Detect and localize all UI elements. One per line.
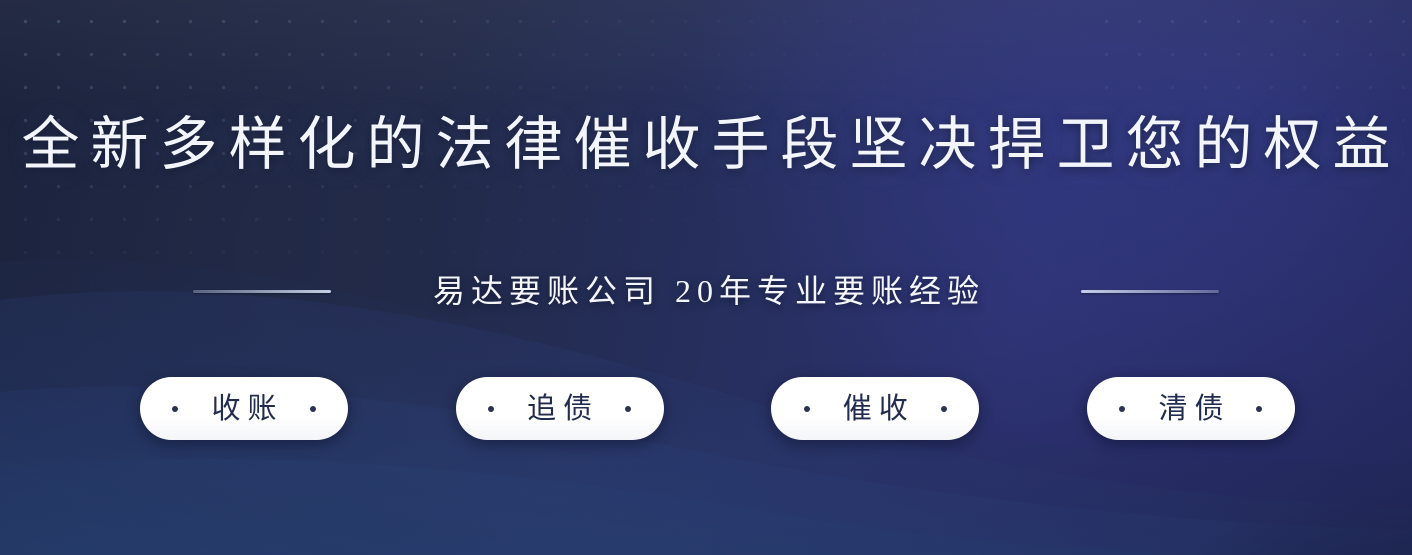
dot-icon bbox=[310, 406, 316, 412]
service-pill-row: 收账 追债 催收 清债 bbox=[140, 377, 1295, 440]
dot-icon bbox=[941, 406, 947, 412]
subtitle-row: 易达要账公司 20年专业要账经验 bbox=[0, 268, 1412, 314]
right-rule-decoration bbox=[1081, 290, 1219, 293]
promo-banner: 全新多样化的法律催收手段坚决捍卫您的权益 易达要账公司 20年专业要账经验 收账… bbox=[0, 0, 1412, 555]
banner-headline: 全新多样化的法律催收手段坚决捍卫您的权益 bbox=[0, 110, 1412, 180]
banner-subtitle: 易达要账公司 20年专业要账经验 bbox=[427, 271, 985, 311]
service-pill-label: 清债 bbox=[1151, 392, 1230, 426]
dot-icon bbox=[625, 406, 631, 412]
left-rule-decoration bbox=[193, 290, 331, 293]
service-pill-shouzhang[interactable]: 收账 bbox=[140, 377, 348, 440]
dot-icon bbox=[488, 406, 494, 412]
dot-icon bbox=[1256, 406, 1262, 412]
service-pill-label: 追债 bbox=[520, 392, 599, 426]
dot-icon bbox=[172, 406, 178, 412]
service-pill-zhuizhai[interactable]: 追债 bbox=[456, 377, 664, 440]
dot-icon bbox=[804, 406, 810, 412]
service-pill-label: 催收 bbox=[836, 392, 915, 426]
service-pill-qingzhai[interactable]: 清债 bbox=[1087, 377, 1295, 440]
dot-icon bbox=[1119, 406, 1125, 412]
service-pill-label: 收账 bbox=[204, 392, 283, 426]
banner-content: 全新多样化的法律催收手段坚决捍卫您的权益 易达要账公司 20年专业要账经验 收账… bbox=[0, 0, 1412, 555]
service-pill-cuishou[interactable]: 催收 bbox=[771, 377, 979, 440]
